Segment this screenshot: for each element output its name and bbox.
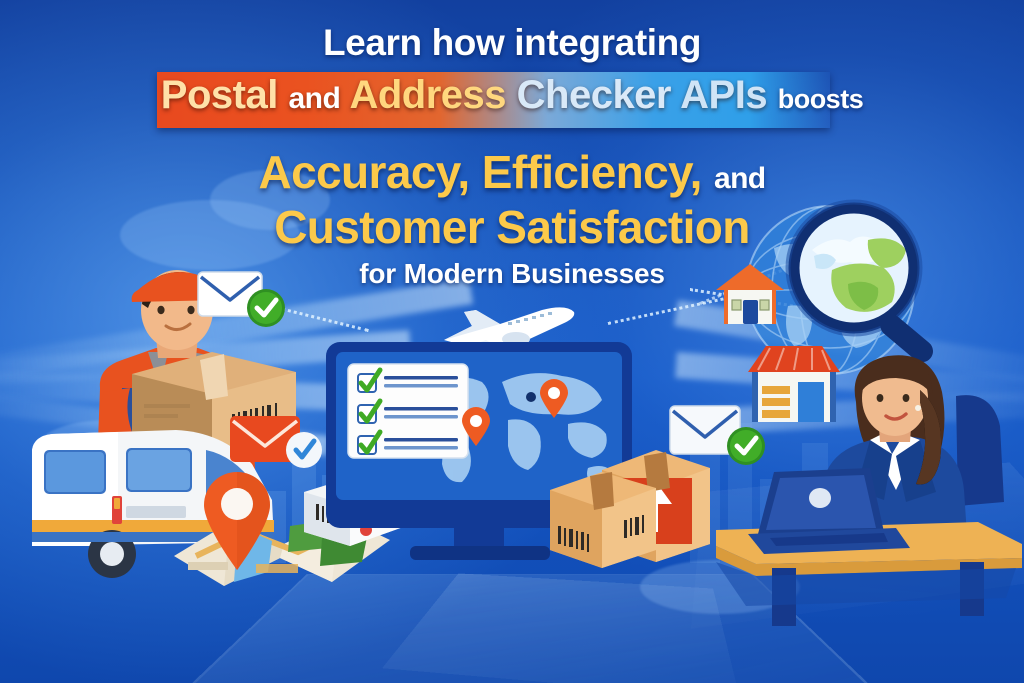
headline-line-2: Postal and Address Checker APIs boosts	[0, 73, 1024, 118]
parcel-box-barcode	[548, 470, 658, 570]
headline-word-address: Address	[349, 73, 506, 117]
headline-line-1: Learn how integrating	[0, 22, 1024, 64]
headline-line-3: Accuracy, Efficiency, and	[0, 145, 1024, 199]
headline-word-checker: Checker	[517, 73, 671, 117]
headline-word-boosts: boosts	[778, 84, 864, 114]
headline-accuracy-efficiency: Accuracy, Efficiency,	[258, 146, 701, 198]
headline-word-and-1: and	[288, 82, 340, 115]
map-pin-large	[198, 468, 276, 572]
house-icon	[712, 258, 788, 330]
headline-word-and-2: and	[714, 162, 766, 195]
headline-word-postal: Postal	[161, 73, 278, 117]
banner-canvas: Learn how integrating Postal and Address…	[0, 0, 1024, 683]
laptop	[746, 468, 914, 560]
headline-word-apis: APIs	[680, 73, 767, 117]
envelope-verified-white	[196, 268, 294, 338]
